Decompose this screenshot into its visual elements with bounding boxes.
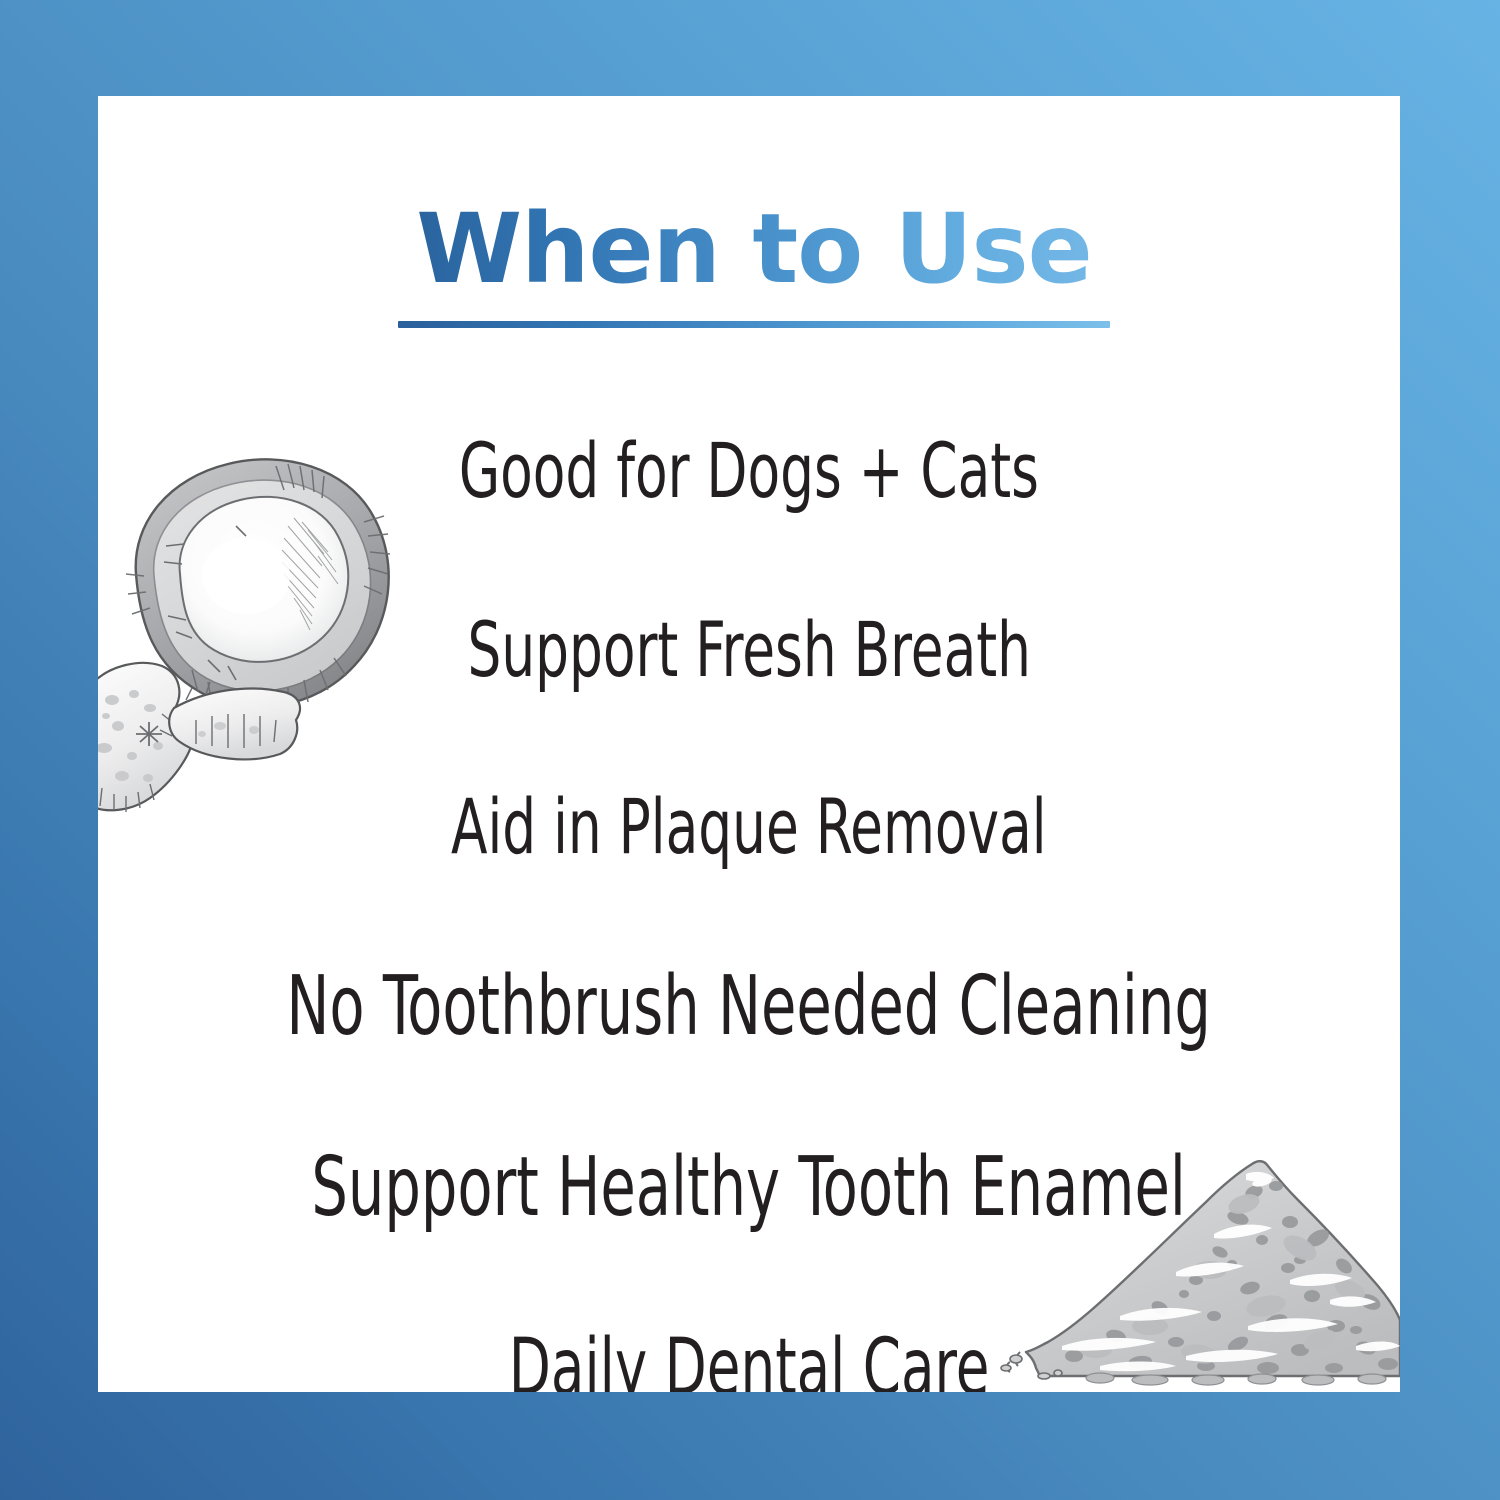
benefit-label: Daily Dental Care: [509, 1323, 990, 1392]
benefit-label: Aid in Plaque Removal: [451, 782, 1047, 871]
benefit-list: Good for Dogs + Cats Support Fresh Breat…: [98, 426, 1400, 1392]
infographic-canvas: When to Use Good for Dogs + Cats Support…: [0, 0, 1500, 1500]
list-item: No Toothbrush Needed Cleaning: [98, 959, 1400, 1054]
benefit-label: Support Fresh Breath: [467, 605, 1031, 694]
list-item: Support Fresh Breath: [98, 605, 1400, 694]
title-underline-rule: [398, 321, 1110, 328]
list-item: Daily Dental Care: [98, 1323, 1400, 1392]
list-item: Good for Dogs + Cats: [98, 426, 1400, 515]
benefit-label: Good for Dogs + Cats: [459, 426, 1039, 515]
list-item: Support Healthy Tooth Enamel: [98, 1140, 1400, 1235]
list-item: Aid in Plaque Removal: [98, 782, 1400, 871]
benefit-label: No Toothbrush Needed Cleaning: [287, 959, 1212, 1054]
white-content-panel: When to Use Good for Dogs + Cats Support…: [98, 96, 1400, 1392]
header-block: When to Use: [398, 201, 1110, 328]
page-title: When to Use: [416, 201, 1092, 297]
benefit-label: Support Healthy Tooth Enamel: [312, 1140, 1187, 1235]
